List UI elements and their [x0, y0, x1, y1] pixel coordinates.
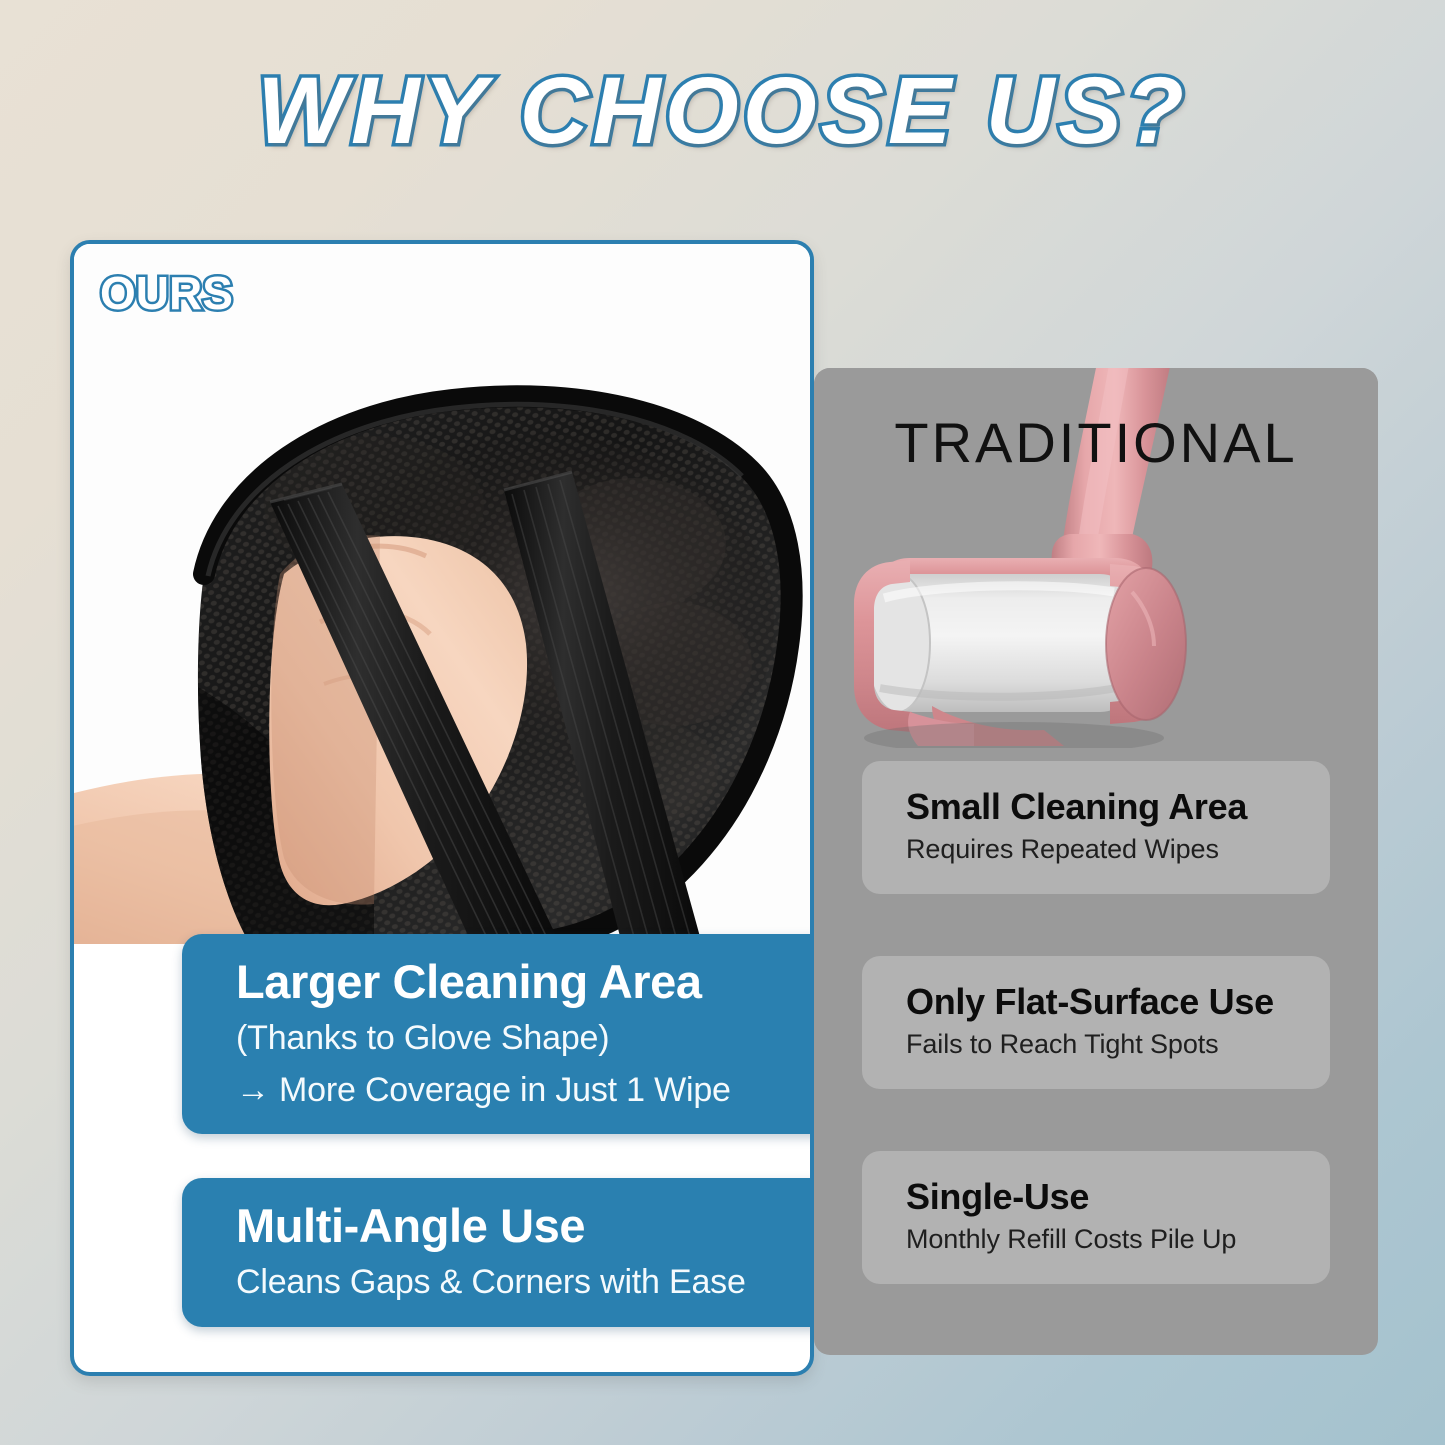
glove-product-photo [74, 244, 810, 944]
feature-title: Larger Cleaning Area [236, 956, 814, 1009]
drawback-subtitle: Monthly Refill Costs Pile Up [906, 1223, 1330, 1257]
infographic-canvas: WHY CHOOSE US? [0, 0, 1445, 1445]
drawback-subtitle: Fails to Reach Tight Spots [906, 1028, 1330, 1062]
page-title: WHY CHOOSE US? [0, 62, 1445, 162]
drawback-title: Only Flat-Surface Use [906, 982, 1330, 1022]
drawback-card-single-use: Single-Use Monthly Refill Costs Pile Up [862, 1151, 1330, 1284]
traditional-title: TRADITIONAL [814, 410, 1378, 475]
feature-subtitle-1: (Thanks to Glove Shape) [236, 1016, 814, 1061]
drawback-title: Single-Use [906, 1177, 1330, 1217]
drawback-card-small-cleaning-area: Small Cleaning Area Requires Repeated Wi… [862, 761, 1330, 894]
feature-subtitle-1: Cleans Gaps & Corners with Ease [236, 1260, 814, 1305]
feature-subtitle-2: → More Coverage in Just 1 Wipe [236, 1068, 814, 1113]
drawback-card-only-flat-surface-use: Only Flat-Surface Use Fails to Reach Tig… [862, 956, 1330, 1089]
ours-panel: OURS Larger Cleaning Area (Thanks to Glo… [70, 240, 814, 1376]
feature-card-multi-angle-use: Multi-Angle Use Cleans Gaps & Corners wi… [182, 1178, 814, 1327]
ours-badge: OURS [100, 266, 233, 320]
feature-title: Multi-Angle Use [236, 1200, 814, 1253]
traditional-panel: TRADITIONAL Small Cleaning Area Requires… [814, 368, 1378, 1355]
feature-card-larger-cleaning-area: Larger Cleaning Area (Thanks to Glove Sh… [182, 934, 814, 1134]
drawback-title: Small Cleaning Area [906, 787, 1330, 827]
drawback-subtitle: Requires Repeated Wipes [906, 833, 1330, 867]
